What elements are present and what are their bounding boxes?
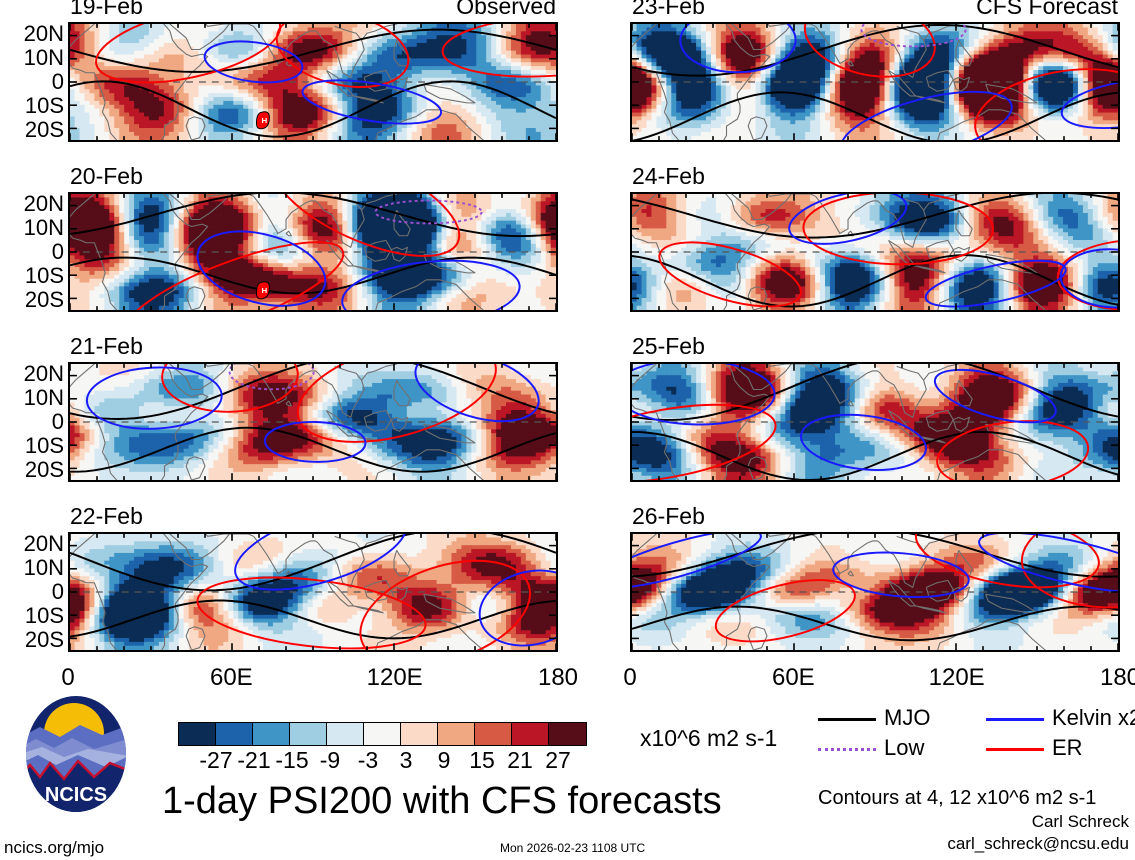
x-axis-tick-label: 180: [1100, 664, 1135, 692]
colorbar-tick-label: -21: [237, 749, 270, 772]
y-axis-tick-label: 10N: [24, 387, 64, 409]
y-axis-tick-label: 0: [52, 71, 64, 93]
map-panel-24-feb: 24-Feb: [630, 192, 1120, 312]
x-axis-tick-label: 60E: [772, 664, 815, 692]
y-axis-tick-label: 20N: [24, 23, 64, 45]
legend-label: MJO: [884, 706, 930, 730]
colorbar-tick-label: 15: [469, 749, 495, 772]
map-plot-area: [630, 22, 1120, 142]
x-axis-tick-label: 180: [538, 664, 578, 692]
figure-root: 19-FebObservedH20N10N010S20S20-FebH20N10…: [0, 0, 1135, 860]
map-svg: H: [70, 24, 556, 140]
panel-date-label: 21-Feb: [70, 335, 143, 358]
panel-header-label: CFS Forecast: [976, 0, 1118, 18]
y-axis-tick-label: 10S: [25, 435, 64, 457]
colorbar-swatch: [549, 723, 586, 745]
colorbar: -27-21-15-9-339152127: [178, 722, 587, 775]
x-axis-tick-label: 0: [623, 664, 636, 692]
svg-text:H: H: [262, 116, 268, 125]
wave-legend: MJOLowKelvin x2ER: [818, 706, 1135, 766]
y-axis-tick-label: 20N: [24, 533, 64, 555]
colorbar-swatch: [216, 723, 253, 745]
contours-note: Contours at 4, 12 x10^6 m2 s-1: [818, 787, 1096, 809]
x-axis-labels-right: 060E120E180: [630, 664, 1120, 694]
colorbar-swatches: [178, 722, 587, 746]
map-panel-25-feb: 25-Feb: [630, 362, 1120, 482]
colorbar-tick-label: -9: [320, 749, 340, 772]
y-axis-tick-label: 20N: [24, 193, 64, 215]
y-axis-tick-label: 20N: [24, 363, 64, 385]
x-axis-tick-label: 0: [61, 664, 74, 692]
y-axis-tick-label: 10N: [24, 47, 64, 69]
ncics-logo: NCICS: [22, 691, 130, 817]
y-axis-tick-label: 20S: [25, 459, 64, 481]
colorbar-tick-labels: -27-21-15-9-339152127: [178, 749, 587, 775]
x-axis-tick-label: 120E: [929, 664, 985, 692]
cyclone-marker: H: [256, 282, 269, 299]
y-axis-tick-label: 10S: [25, 95, 64, 117]
colorbar-tick-label: -3: [358, 749, 378, 772]
y-axis-tick-label: 10N: [24, 557, 64, 579]
y-axis-tick-label: 0: [52, 581, 64, 603]
author-name: Carl Schreck: [1032, 812, 1129, 831]
map-panel-22-feb: 22-Feb: [68, 532, 558, 652]
logo-label: NCICS: [45, 784, 107, 806]
panel-date-label: 22-Feb: [70, 505, 143, 528]
map-svg: [632, 534, 1118, 650]
panel-date-label: 23-Feb: [632, 0, 705, 18]
map-plot-area: H: [68, 192, 558, 312]
colorbar-tick-label: 3: [400, 749, 413, 772]
map-plot-area: [68, 362, 558, 482]
colorbar-tick-label: -15: [275, 749, 308, 772]
map-plot-area: [630, 362, 1120, 482]
map-svg: [632, 364, 1118, 480]
author-email: carl_schreck@ncsu.edu: [947, 834, 1129, 853]
x-axis-tick-label: 120E: [367, 664, 423, 692]
colorbar-tick-label: 9: [438, 749, 451, 772]
map-plot-area: [68, 532, 558, 652]
map-plot-area: [630, 532, 1120, 652]
map-panel-23-feb: 23-FebCFS Forecast: [630, 22, 1120, 142]
y-axis-labels: 20N10N010S20S: [2, 532, 64, 652]
panel-date-label: 19-Feb: [70, 0, 143, 18]
x-axis-labels-left: 060E120E180: [68, 664, 558, 694]
colorbar-swatch: [179, 723, 216, 745]
map-svg: [70, 534, 556, 650]
colorbar-swatch: [290, 723, 327, 745]
page-title: 1-day PSI200 with CFS forecasts: [162, 780, 722, 822]
colorbar-swatch: [364, 723, 401, 745]
legend-label: ER: [1052, 736, 1083, 760]
colorbar-tick-label: -27: [199, 749, 232, 772]
map-panel-26-feb: 26-Feb: [630, 532, 1120, 652]
panel-date-label: 26-Feb: [632, 505, 705, 528]
colorbar-swatch: [475, 723, 512, 745]
y-axis-tick-label: 10S: [25, 605, 64, 627]
map-panel-19-feb: 19-FebObservedH: [68, 22, 558, 142]
y-axis-labels: 20N10N010S20S: [2, 22, 64, 142]
y-axis-tick-label: 20S: [25, 119, 64, 141]
map-plot-area: [630, 192, 1120, 312]
y-axis-labels: 20N10N010S20S: [2, 362, 64, 482]
x-axis-tick-label: 60E: [210, 664, 253, 692]
map-svg: [632, 194, 1118, 310]
legend-line-swatch: [818, 718, 876, 721]
map-panel-20-feb: 20-FebH: [68, 192, 558, 312]
y-axis-labels: 20N10N010S20S: [2, 192, 64, 312]
map-svg: [632, 24, 1118, 140]
colorbar-swatch: [253, 723, 290, 745]
y-axis-tick-label: 20S: [25, 629, 64, 651]
legend-label: Low: [884, 736, 924, 760]
y-axis-tick-label: 20S: [25, 289, 64, 311]
legend-label: Kelvin x2: [1052, 706, 1135, 730]
y-axis-tick-label: 10S: [25, 265, 64, 287]
map-svg: [70, 364, 556, 480]
colorbar-tick-label: 21: [507, 749, 533, 772]
legend-line-swatch: [986, 718, 1044, 721]
panel-date-label: 25-Feb: [632, 335, 705, 358]
colorbar-swatch: [327, 723, 364, 745]
site-url[interactable]: ncics.org/mjo: [4, 838, 104, 857]
timestamp: Mon 2026-02-23 1108 UTC: [500, 841, 645, 855]
colorbar-swatch: [512, 723, 549, 745]
colorbar-swatch: [401, 723, 438, 745]
panel-header-label: Observed: [456, 0, 556, 18]
y-axis-tick-label: 0: [52, 411, 64, 433]
cyclone-marker: H: [256, 112, 269, 129]
colorbar-swatch: [438, 723, 475, 745]
map-plot-area: H: [68, 22, 558, 142]
y-axis-tick-label: 10N: [24, 217, 64, 239]
panel-date-label: 24-Feb: [632, 165, 705, 188]
panel-date-label: 20-Feb: [70, 165, 143, 188]
colorbar-tick-label: 27: [545, 749, 571, 772]
map-panel-21-feb: 21-Feb: [68, 362, 558, 482]
colorbar-units-label: x10^6 m2 s-1: [640, 727, 777, 750]
y-axis-tick-label: 0: [52, 241, 64, 263]
legend-line-swatch: [818, 748, 876, 751]
legend-line-swatch: [986, 748, 1044, 751]
map-svg: H: [70, 194, 556, 310]
